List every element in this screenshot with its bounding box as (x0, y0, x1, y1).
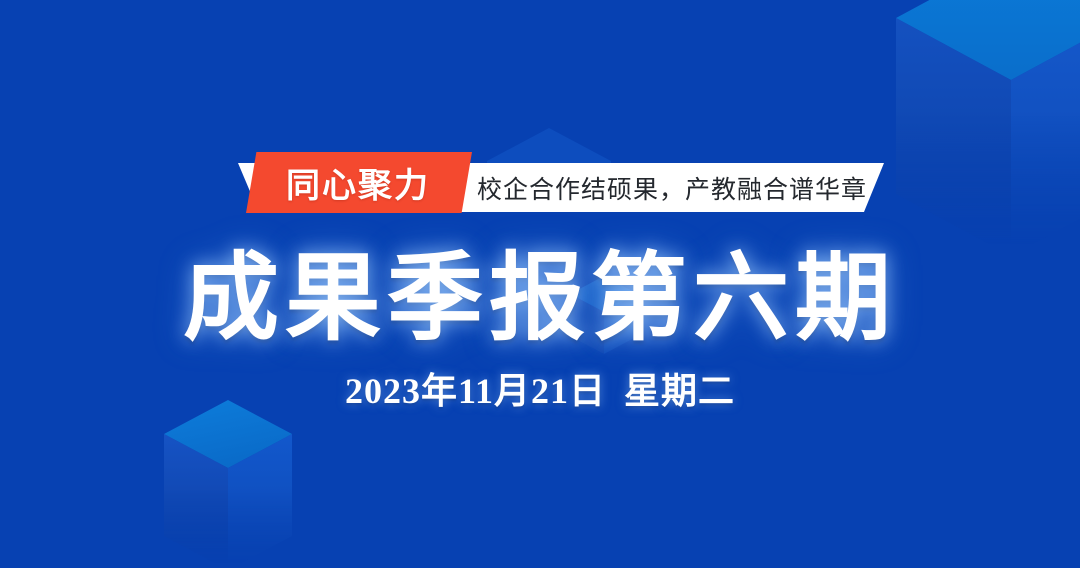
cube-bottom-left-icon (164, 400, 292, 568)
date-weekday: 星期二 (624, 371, 735, 411)
page-title: 成果季报第六期 (0, 246, 1080, 352)
date-full: 2023年11月21日 (345, 371, 606, 411)
ribbon: 同心聚力 校企合作结硕果，产教融合谱华章 (0, 140, 1080, 224)
poster-banner: 同心聚力 校企合作结硕果，产教融合谱华章 成果季报第六期 2023年11月21日… (0, 0, 1080, 568)
ribbon-subtitle: 校企合作结硕果，产教融合谱华章 (477, 163, 867, 212)
ribbon-orange-tag: 同心聚力 (246, 152, 472, 213)
ribbon-tag-label: 同心聚力 (286, 158, 430, 207)
date-line: 2023年11月21日星期二 (0, 369, 1080, 413)
